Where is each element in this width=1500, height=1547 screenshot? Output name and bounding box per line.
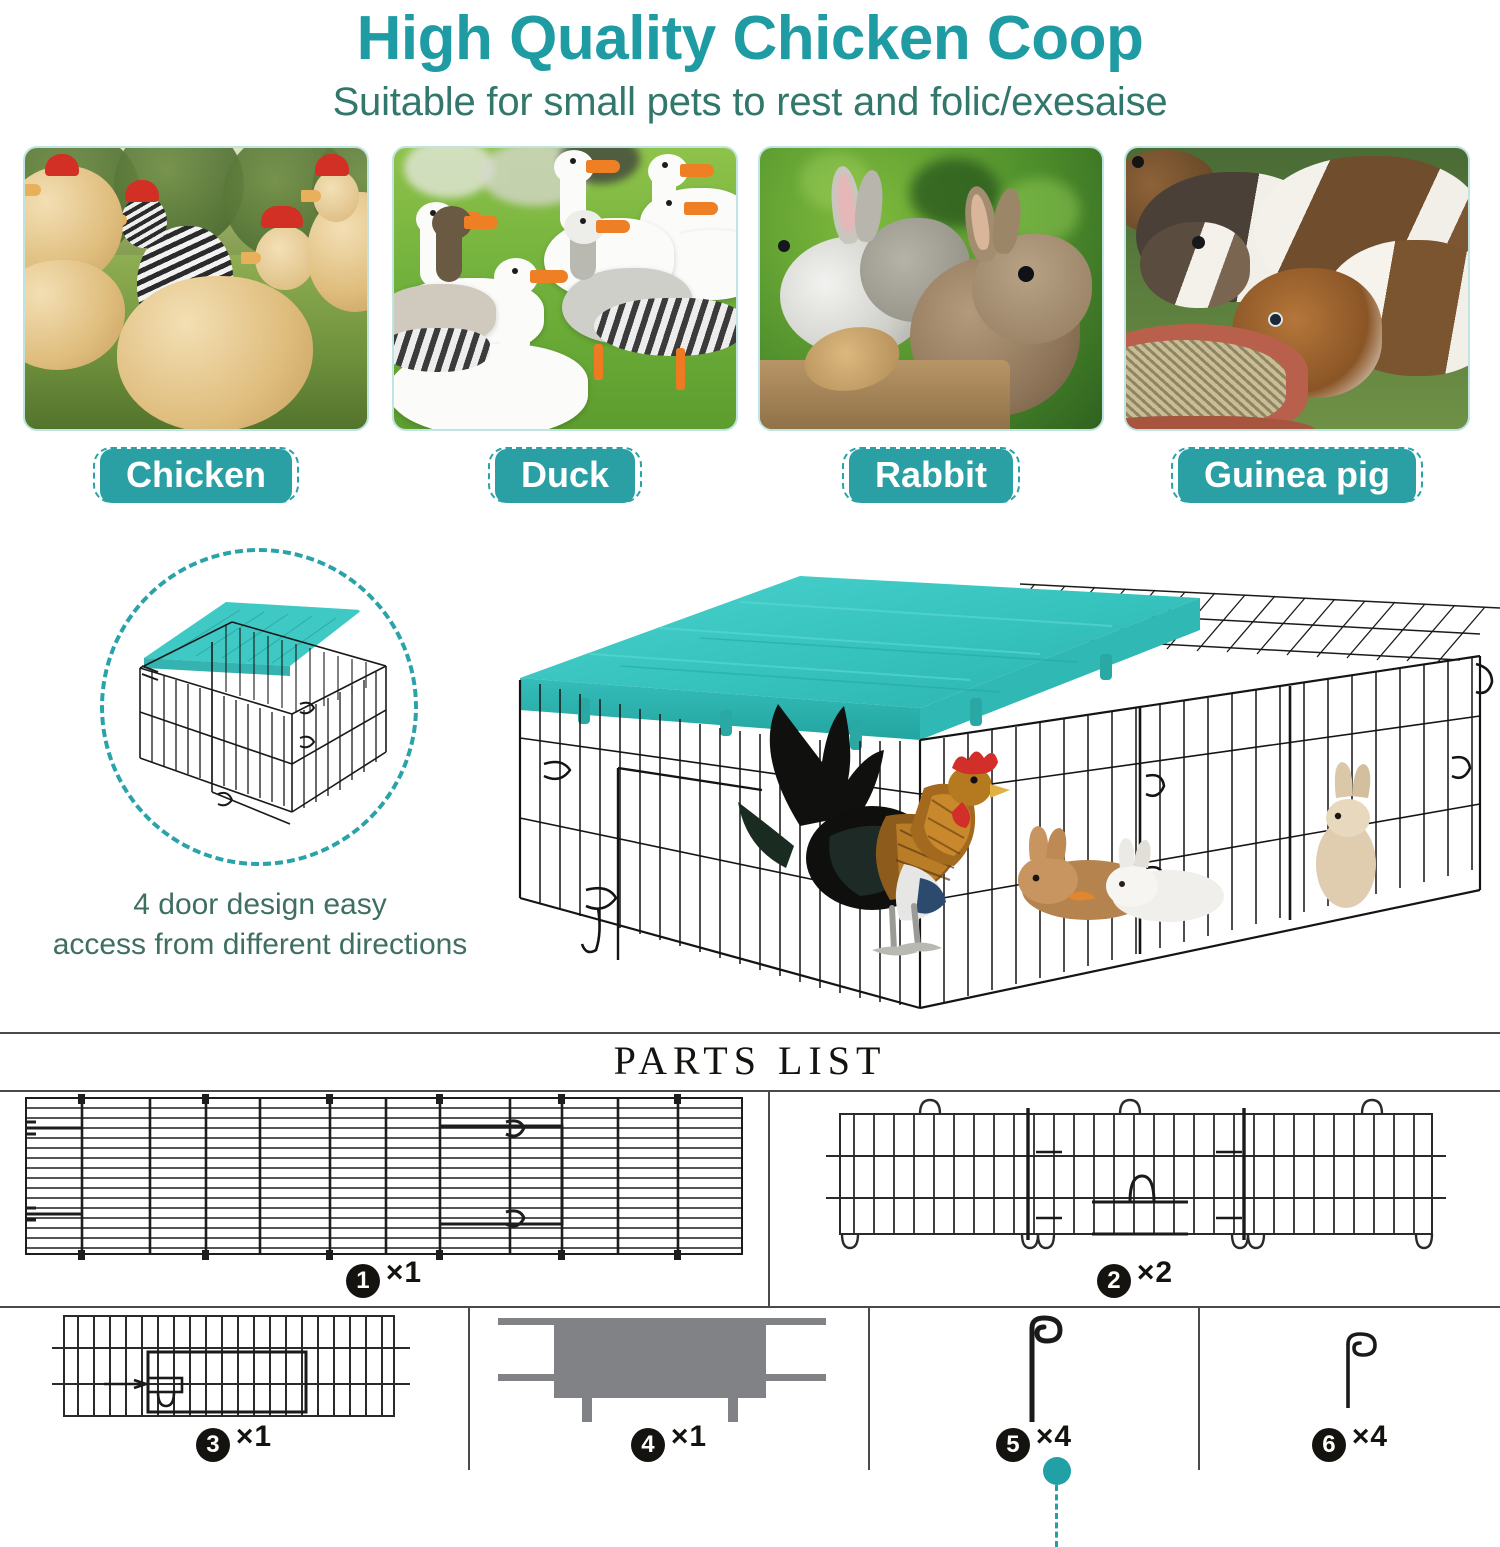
fabric-sun-cover-icon: [470, 1312, 870, 1424]
part-caption-3: 3×1: [0, 1419, 468, 1462]
part-caption-6: 6×4: [1200, 1419, 1500, 1462]
part-number-2: 2: [1097, 1264, 1131, 1298]
rabbits-photo: [758, 146, 1104, 431]
page-subtitle: Suitable for small pets to rest and foli…: [0, 74, 1500, 126]
page-title: High Quality Chicken Coop: [0, 0, 1500, 74]
part-qty-4: ×1: [671, 1420, 707, 1453]
part-qty-5: ×4: [1036, 1420, 1072, 1453]
parts-list-section: PARTS LIST: [0, 1032, 1500, 1470]
part-caption-2: 2×2: [770, 1255, 1500, 1298]
part-cell-3: 3×1: [0, 1308, 470, 1470]
part-cell-2: 2×2: [770, 1090, 1500, 1308]
part-qty-3: ×1: [236, 1420, 272, 1453]
part-art-4: [470, 1312, 868, 1424]
part-number-3: 3: [196, 1428, 230, 1462]
animal-label-rabbit: Rabbit: [849, 449, 1013, 503]
chickens-photo: [23, 146, 369, 431]
part-cell-6: 6×4: [1200, 1308, 1500, 1470]
animal-card-duck: Duck: [392, 146, 738, 503]
part-caption-1: 1×1: [0, 1255, 768, 1298]
part-cell-4: 4×1: [470, 1308, 870, 1470]
long-spiral-stake-icon: [870, 1312, 1200, 1424]
part-art-2: [770, 1094, 1500, 1260]
part-cell-5: 5×4: [870, 1308, 1200, 1470]
part-art-3: [0, 1312, 468, 1424]
geese-photo: [392, 146, 738, 431]
part-number-6: 6: [1312, 1428, 1346, 1462]
animal-label-duck: Duck: [495, 449, 635, 503]
coop-product-illustration: [500, 568, 1500, 1018]
part-qty-2: ×2: [1137, 1256, 1173, 1289]
part-qty-1: ×1: [386, 1256, 422, 1289]
four-door-inset: [100, 548, 418, 866]
part-number-4: 4: [631, 1428, 665, 1462]
part-caption-5: 5×4: [870, 1419, 1198, 1462]
four-door-caption-line2: access from different directions: [10, 925, 510, 965]
four-door-caption-line1: 4 door design easy: [10, 885, 510, 925]
product-photo: [500, 568, 1500, 1018]
long-wire-roof-panel-icon: [0, 1094, 770, 1262]
animal-card-chicken: Chicken: [23, 146, 369, 503]
animal-label-wrap-chicken: Chicken: [93, 447, 299, 503]
animal-card-guinea-pig: Guinea pig: [1124, 146, 1470, 503]
part-cell-1: 1×1: [0, 1090, 770, 1308]
animal-label-wrap-duck: Duck: [488, 447, 642, 503]
callout-dashed-line: [1055, 1485, 1058, 1547]
animal-label-guinea-pig: Guinea pig: [1178, 449, 1416, 503]
animal-label-wrap-guinea-pig: Guinea pig: [1171, 447, 1423, 503]
short-spiral-stake-icon: [1200, 1312, 1500, 1424]
part-qty-6: ×4: [1352, 1420, 1388, 1453]
guinea-pigs-photo: [1124, 146, 1470, 431]
part-art-5: [870, 1312, 1198, 1424]
feature-section: 4 door design easy access from different…: [0, 510, 1500, 1030]
parts-top-rule: [0, 1032, 1500, 1034]
product-infographic: High Quality Chicken Coop Suitable for s…: [0, 0, 1500, 1470]
part-number-5: 5: [996, 1428, 1030, 1462]
part-number-1: 1: [346, 1264, 380, 1298]
part-art-1: [0, 1094, 768, 1260]
part-art-6: [1200, 1312, 1500, 1424]
animal-label-wrap-rabbit: Rabbit: [842, 447, 1020, 503]
wire-side-panel-icon: [770, 1094, 1500, 1262]
four-door-caption: 4 door design easy access from different…: [10, 885, 510, 965]
parts-list-title: PARTS LIST: [0, 1036, 1500, 1086]
wire-end-panel-with-door-icon: [0, 1312, 470, 1424]
animal-card-rabbit: Rabbit: [758, 146, 1104, 503]
animal-label-chicken: Chicken: [100, 449, 292, 503]
part-caption-4: 4×1: [470, 1419, 868, 1462]
animal-suitability-row: Chicken: [0, 146, 1500, 506]
header: High Quality Chicken Coop Suitable for s…: [0, 0, 1500, 138]
coop-line-drawing-icon: [114, 562, 406, 854]
